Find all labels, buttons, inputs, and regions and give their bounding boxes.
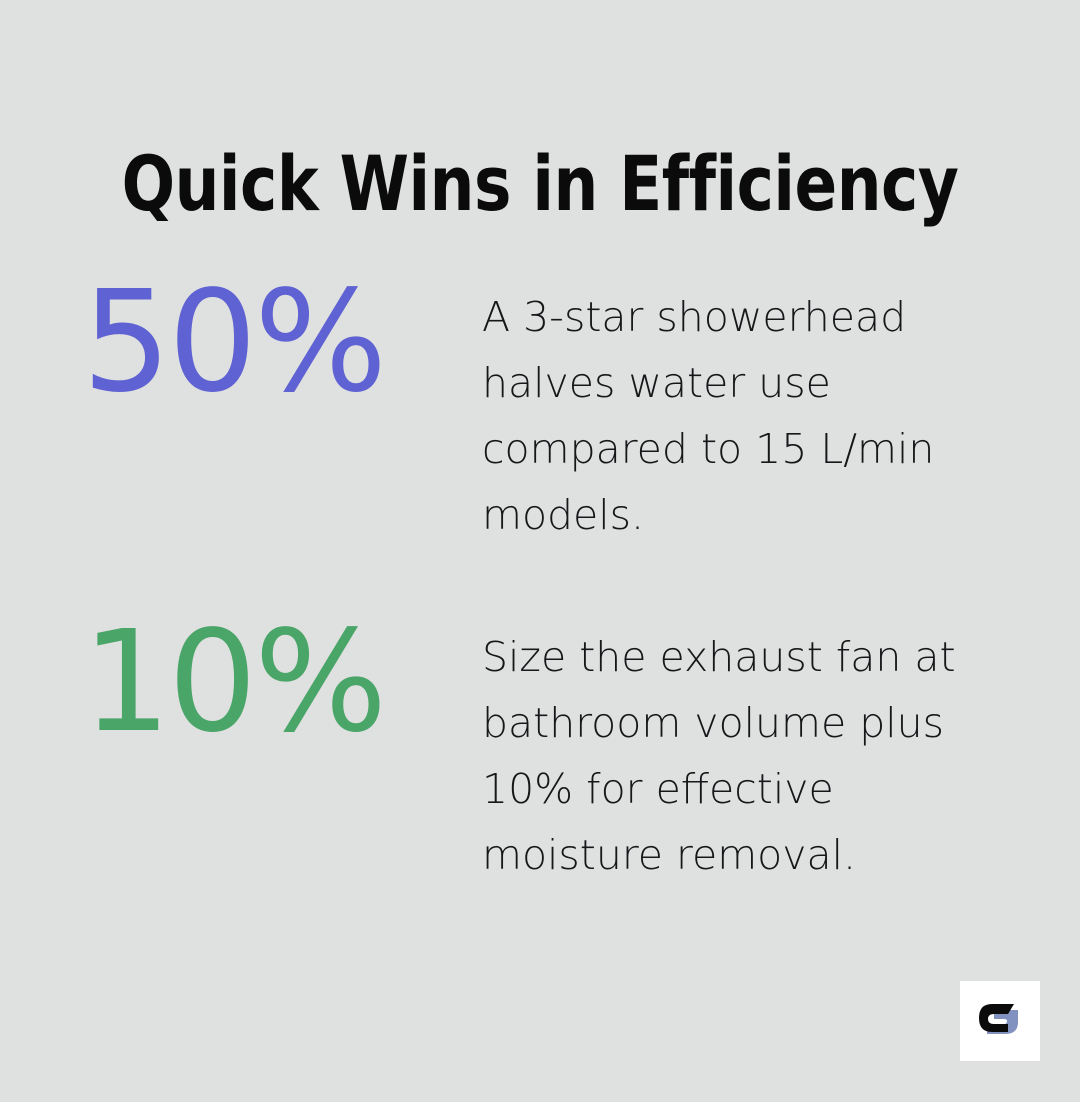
infographic-canvas: Quick Wins in Efficiency 50% A 3-star sh… bbox=[0, 0, 1080, 1102]
brand-logo-card bbox=[960, 981, 1040, 1061]
stats-list: 50% A 3-star showerhead halves water use… bbox=[82, 268, 998, 888]
stat-description-secondary: Size the exhaust fan at bathroom volume … bbox=[482, 608, 982, 888]
stat-value-secondary: 10% bbox=[82, 608, 482, 758]
stat-value-primary: 50% bbox=[82, 268, 482, 418]
stat-row: 50% A 3-star showerhead halves water use… bbox=[82, 268, 998, 548]
stat-description-primary: A 3-star showerhead halves water use com… bbox=[482, 268, 982, 548]
page-title: Quick Wins in Efficiency bbox=[43, 139, 1037, 229]
stat-row: 10% Size the exhaust fan at bathroom vol… bbox=[82, 608, 998, 888]
brand-logo-icon bbox=[974, 1000, 1026, 1042]
